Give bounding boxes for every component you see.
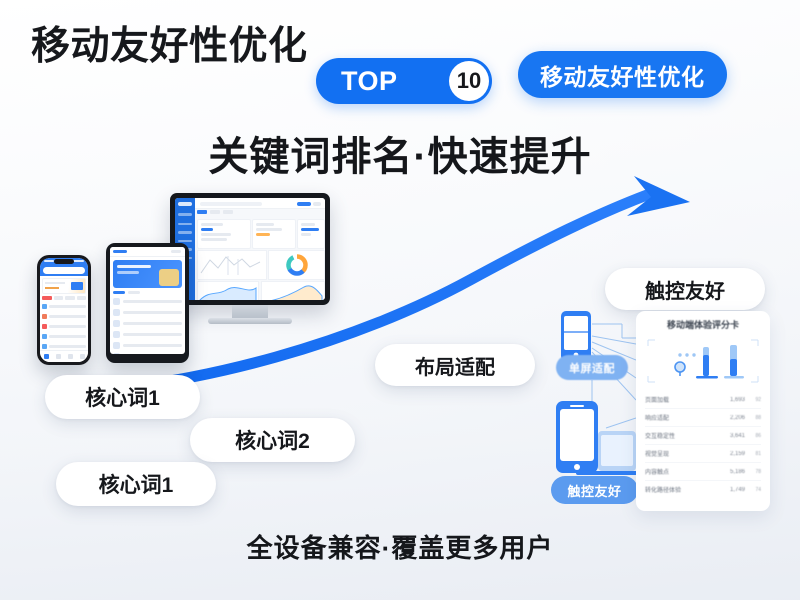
top-rank-badge: TOP 10 — [316, 58, 492, 104]
monitor-stand-base — [208, 318, 292, 324]
table-row: 内容触点 5,186 78 — [645, 463, 761, 481]
phone-mockup — [37, 255, 91, 365]
desktop-monitor-mockup — [170, 193, 330, 323]
mobile-experience-diagram: 单屏适配 触控友好 移动端体验评分卡 — [548, 308, 770, 513]
row-score: 78 — [745, 469, 761, 475]
row-value: 1,749 — [719, 487, 745, 493]
table-row: 转化路径体验 1,749 74 — [645, 481, 761, 498]
small-phone-icon — [561, 311, 591, 361]
phone-screen — [40, 258, 88, 362]
row-label: 响应适配 — [645, 413, 719, 422]
row-value: 1,693 — [719, 397, 745, 403]
mobile-experience-scorecard: 移动端体验评分卡 — [636, 311, 770, 511]
layout-adaptation-pill: 布局适配 — [375, 344, 535, 386]
table-row: 页面加载 1,693 92 — [645, 391, 761, 409]
scorecard-rows: 页面加载 1,693 92 响应适配 2,206 88 交互稳定性 3,641 … — [645, 391, 761, 498]
top-badge-number: 10 — [449, 61, 489, 101]
row-label: 交互稳定性 — [645, 431, 719, 440]
row-score: 92 — [745, 397, 761, 403]
row-value: 2,206 — [719, 415, 745, 421]
page-title: 移动友好性优化 — [31, 27, 308, 66]
split-screen-tag: 单屏适配 — [556, 355, 628, 380]
row-score: 86 — [745, 433, 761, 439]
scorecard-bar-chart — [646, 337, 760, 385]
large-phone-icon — [556, 401, 598, 473]
phone-notch — [54, 259, 74, 264]
table-row: 视觉呈现 2,159 81 — [645, 445, 761, 463]
keyword-pill-3: 核心词1 — [56, 462, 216, 506]
header-feature-pill: 移动友好性优化 — [518, 51, 727, 98]
top-badge-word: TOP — [341, 66, 398, 97]
row-label: 页面加载 — [645, 395, 719, 404]
footer-tagline: 全设备兼容·覆盖更多用户 — [0, 528, 800, 565]
touch-friendly-pill: 触控友好 — [605, 268, 765, 310]
tablet-mockup — [106, 243, 189, 363]
keyword-pill-2: 核心词2 — [190, 418, 355, 462]
row-score: 88 — [745, 415, 761, 421]
row-score: 74 — [745, 487, 761, 493]
row-value: 3,641 — [719, 433, 745, 439]
row-label: 内容触点 — [645, 467, 719, 476]
device-mockups — [18, 190, 328, 370]
scorecard-title: 移动端体验评分卡 — [636, 318, 770, 331]
tablet-screen — [110, 247, 185, 354]
monitor-screen — [175, 198, 325, 300]
row-value: 5,186 — [719, 469, 745, 475]
poster-canvas: 移动友好性优化 TOP 10 移动友好性优化 关键词排名·快速提升 — [0, 0, 800, 600]
keyword-pill-1: 核心词1 — [45, 375, 200, 419]
touch-friendly-tag: 触控友好 — [551, 476, 638, 504]
row-score: 81 — [745, 451, 761, 457]
monitor-bezel — [170, 193, 330, 305]
row-value: 2,159 — [719, 451, 745, 457]
phone-bezel — [37, 255, 91, 365]
monitor-stand-neck — [232, 305, 268, 318]
table-row: 响应适配 2,206 88 — [645, 409, 761, 427]
tablet-bezel — [106, 243, 189, 363]
row-label: 转化路径体验 — [645, 485, 719, 494]
table-row: 交互稳定性 3,641 86 — [645, 427, 761, 445]
row-label: 视觉呈现 — [645, 449, 719, 458]
